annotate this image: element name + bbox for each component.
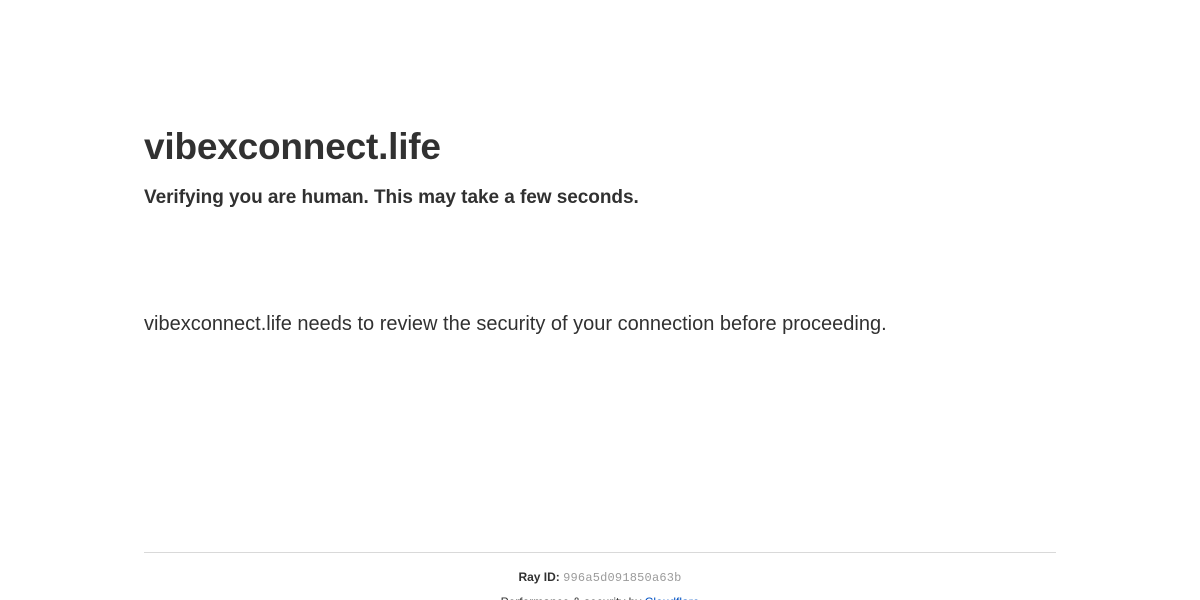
attribution-row: Performance & security by Cloudflare xyxy=(144,595,1056,600)
verification-status-text: Verifying you are human. This may take a… xyxy=(144,170,1056,211)
ray-id-label: Ray ID: xyxy=(518,570,559,584)
challenge-description: vibexconnect.life needs to review the se… xyxy=(144,306,944,342)
cloudflare-link[interactable]: Cloudflare xyxy=(645,595,700,600)
attribution-prefix: Performance & security by xyxy=(501,595,645,600)
challenge-main: vibexconnect.life Verifying you are huma… xyxy=(144,124,1056,342)
ray-id-value: 996a5d091850a63b xyxy=(563,571,681,585)
page-footer: Ray ID: 996a5d091850a63b Performance & s… xyxy=(144,552,1056,600)
turnstile-widget-container[interactable] xyxy=(144,241,444,306)
page-title: vibexconnect.life xyxy=(144,124,1056,170)
ray-id-row: Ray ID: 996a5d091850a63b xyxy=(144,570,1056,586)
content-column: vibexconnect.life Verifying you are huma… xyxy=(144,0,1056,600)
challenge-page: vibexconnect.life Verifying you are huma… xyxy=(0,0,1200,600)
